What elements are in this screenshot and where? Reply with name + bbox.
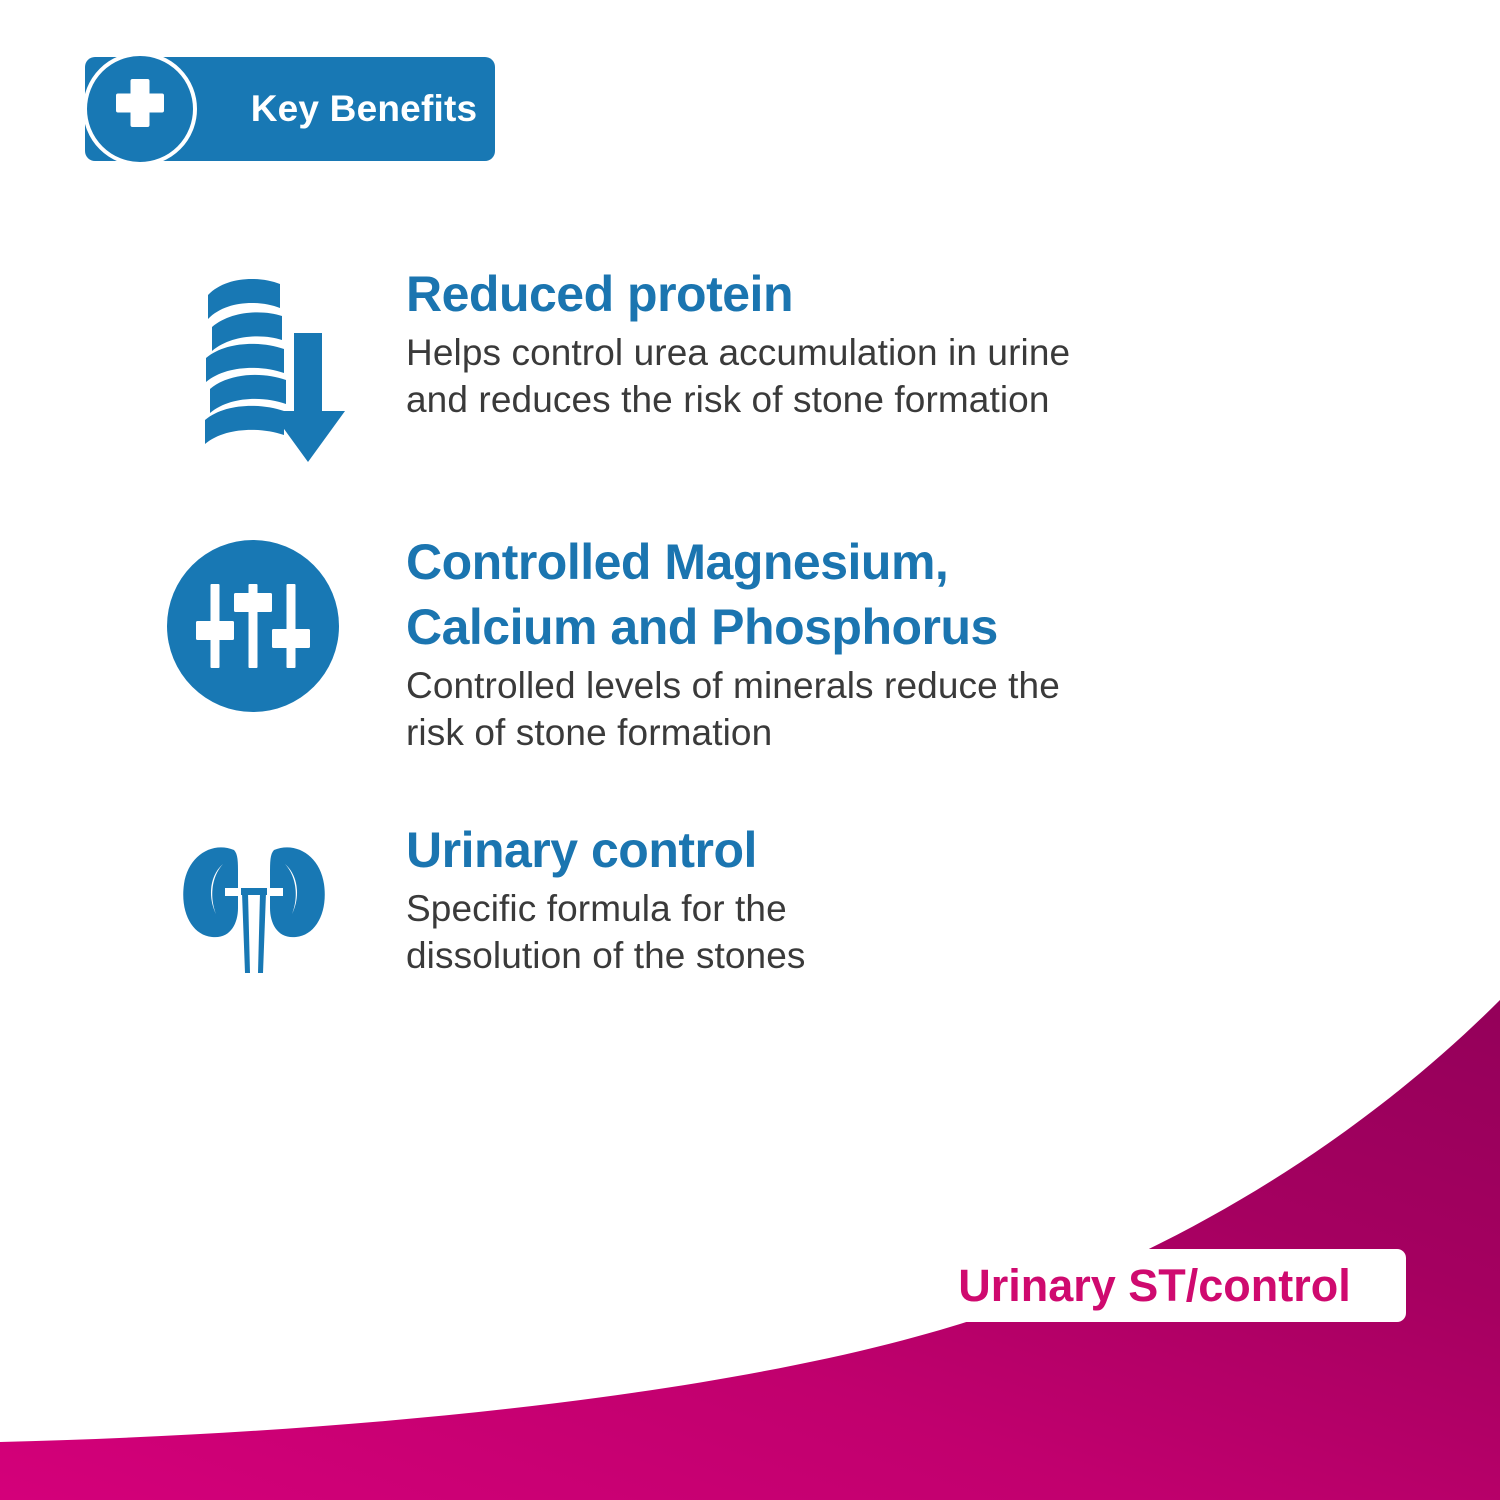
- benefit-description: Controlled levels of minerals reduce the…: [406, 662, 1196, 757]
- key-benefits-badge: Key Benefits: [85, 57, 495, 161]
- benefit-title: Controlled Magnesium, Calcium and Phosph…: [406, 530, 1196, 660]
- benefit-text-block: Controlled Magnesium, Calcium and Phosph…: [406, 530, 1196, 757]
- medical-cross-icon: [83, 52, 197, 166]
- benefit-title-line: Calcium and Phosphorus: [406, 595, 1196, 660]
- benefit-description-line: Helps control urea accumulation in urine: [406, 329, 1166, 376]
- product-name-label: Urinary ST/control: [958, 1260, 1351, 1312]
- key-benefits-infographic: Key Benefits Red: [0, 0, 1500, 1500]
- protein-helix-down-arrow-icon: [198, 270, 348, 470]
- benefit-title-line: Controlled Magnesium,: [406, 530, 1196, 595]
- benefit-text-block: Urinary control Specific formula for the…: [406, 818, 1166, 980]
- product-name-pill: Urinary ST/control: [903, 1249, 1406, 1322]
- kidneys-icon: [178, 838, 330, 978]
- equalizer-sliders-icon: [167, 540, 339, 712]
- benefit-description: Helps control urea accumulation in urine…: [406, 329, 1166, 424]
- magenta-wave-decoration: [0, 960, 1500, 1500]
- benefit-title: Reduced protein: [406, 262, 1166, 327]
- benefit-description-line: risk of stone formation: [406, 709, 1196, 756]
- benefit-title: Urinary control: [406, 818, 1166, 883]
- benefit-text-block: Reduced protein Helps control urea accum…: [406, 262, 1166, 424]
- benefit-description-line: and reduces the risk of stone formation: [406, 376, 1166, 423]
- benefit-description-line: Controlled levels of minerals reduce the: [406, 662, 1196, 709]
- badge-title: Key Benefits: [233, 57, 495, 161]
- benefit-description-line: Specific formula for the: [406, 885, 1166, 932]
